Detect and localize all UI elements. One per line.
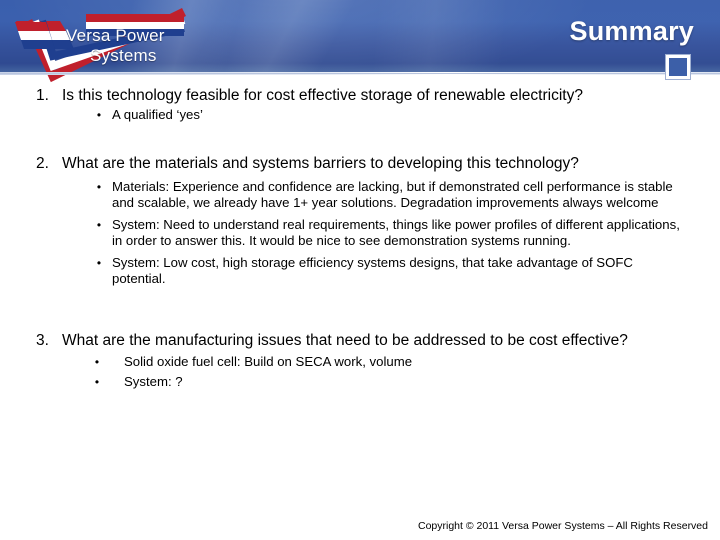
sub-bullet-text-3-1: Solid oxide fuel cell: Build on SECA wor… [110,354,688,370]
sub-bullet-text-2-3: System: Low cost, high storage efficienc… [112,255,688,286]
sub-bullet-text-2-2: System: Need to understand real requirem… [112,217,688,248]
logo-wordmark: Versa Power Systems [66,26,165,66]
bullet-glyph-icon: • [86,217,112,233]
sub-bullet-2-1: • Materials: Experience and confidence a… [36,179,688,210]
header-divider-line [0,73,720,74]
sub-bullet-text-2-1: Materials: Experience and confidence are… [112,179,688,210]
sub-bullet-1-1: • A qualified ‘yes’ [36,107,688,123]
sub-bullet-3-2: • System: ? [36,374,688,390]
slide: Versa Power Systems Summary 1. Is this t… [0,0,720,540]
list-item-3: 3. What are the manufacturing issues tha… [36,331,688,390]
item-text-1: Is this technology feasible for cost eff… [62,86,688,105]
sub-bullet-3-1: • Solid oxide fuel cell: Build on SECA w… [36,354,688,370]
bullet-glyph-icon: • [84,354,110,370]
slide-body: 1. Is this technology feasible for cost … [0,80,720,510]
list-item-2: 2. What are the materials and systems ba… [36,154,688,287]
copyright-footer: Copyright © 2011 Versa Power Systems – A… [418,520,708,532]
numbered-question-1: 1. Is this technology feasible for cost … [36,86,688,105]
bullet-glyph-icon: • [86,107,112,123]
item-number-2: 2. [36,154,62,173]
sublist-1: • A qualified ‘yes’ [36,107,688,123]
sub-bullet-2-2: • System: Need to understand real requir… [36,217,688,248]
bullet-glyph-icon: • [86,179,112,195]
item-number-1: 1. [36,86,62,105]
sublist-2: • Materials: Experience and confidence a… [36,179,688,287]
item-text-3: What are the manufacturing issues that n… [62,331,688,350]
sub-bullet-text-1-1: A qualified ‘yes’ [112,107,688,123]
logo-wordmark-line2: Systems [66,46,165,66]
bullet-glyph-icon: • [86,255,112,271]
sub-bullet-2-3: • System: Low cost, high storage efficie… [36,255,688,286]
list-item-1: 1. Is this technology feasible for cost … [36,86,688,123]
bullet-glyph-icon: • [84,374,110,390]
page-title: Summary [570,16,694,47]
item-number-3: 3. [36,331,62,350]
sublist-3: • Solid oxide fuel cell: Build on SECA w… [36,354,688,390]
numbered-question-3: 3. What are the manufacturing issues tha… [36,331,688,350]
header-square-marker [666,55,690,79]
logo-wordmark-line1: Versa Power [66,26,165,46]
numbered-question-2: 2. What are the materials and systems ba… [36,154,688,173]
item-text-2: What are the materials and systems barri… [62,154,688,173]
sub-bullet-text-3-2: System: ? [110,374,688,390]
